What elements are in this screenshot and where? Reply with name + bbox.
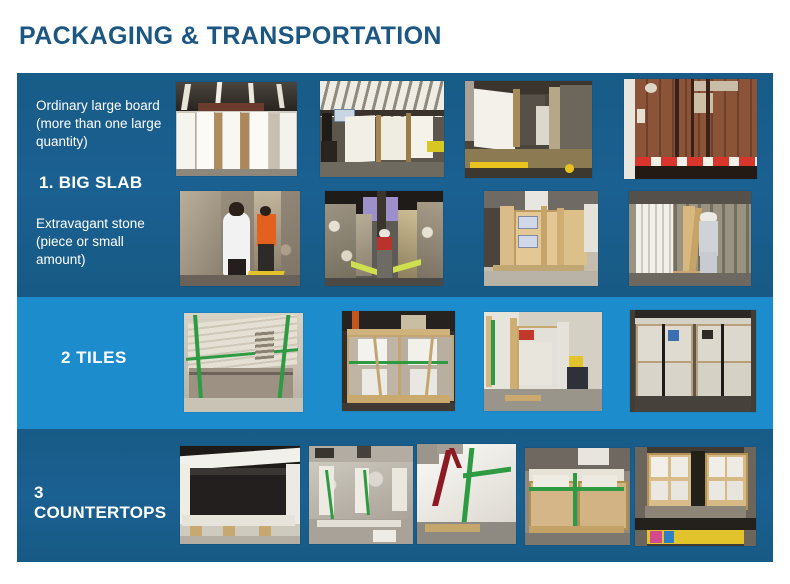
photo-black-countertop-slab-on-pallet: [180, 446, 300, 544]
photo-countertop-crates-on-pallets: [525, 448, 630, 545]
photo-slabs-inside-container-on-truck: [465, 81, 592, 178]
photo-slabs-loading-under-roof: [320, 81, 444, 177]
photo-tile-crates-stacked-warehouse: [484, 312, 602, 411]
photo-worker-walking-between-slab-bundles: [325, 191, 443, 286]
heading-big-slab: 1. BIG SLAB: [39, 173, 142, 193]
heading-countertops: 3 COUNTERTOPS: [34, 483, 177, 523]
slide-root: PACKAGING & TRANSPORTATION Ordinary larg…: [0, 0, 790, 584]
photo-grey-countertops-strapped-green: [309, 446, 413, 544]
photo-wooden-a-frame-crates-outdoors: [484, 191, 598, 286]
photo-container-loaded-with-countertop-crates: [635, 447, 756, 546]
page-title: PACKAGING & TRANSPORTATION: [19, 22, 442, 51]
photo-strapped-tile-pallet-green-bands: [184, 313, 303, 412]
photo-container-fully-loaded-with-tile-crates: [630, 310, 756, 412]
photo-white-slabs-in-warehouse: [176, 82, 297, 176]
label-extravagant-stone: Extravagant stone (piece or small amount…: [36, 215, 176, 269]
photo-workers-handling-granite-slab: [180, 191, 300, 286]
photo-wooden-crates-of-tiles-on-pallets: [342, 311, 455, 411]
heading-tiles: 2 TILES: [61, 348, 127, 368]
photo-worker-loading-crate-into-container: [629, 191, 751, 286]
label-ordinary-large-board: Ordinary large board (more than one larg…: [36, 97, 172, 151]
photo-closed-rust-container-rear: [624, 79, 757, 179]
label-column: Ordinary large board (more than one larg…: [17, 73, 177, 562]
packaging-panel: Ordinary large board (more than one larg…: [17, 73, 773, 562]
photo-white-wrapped-bundle-green-strap: [417, 444, 516, 544]
